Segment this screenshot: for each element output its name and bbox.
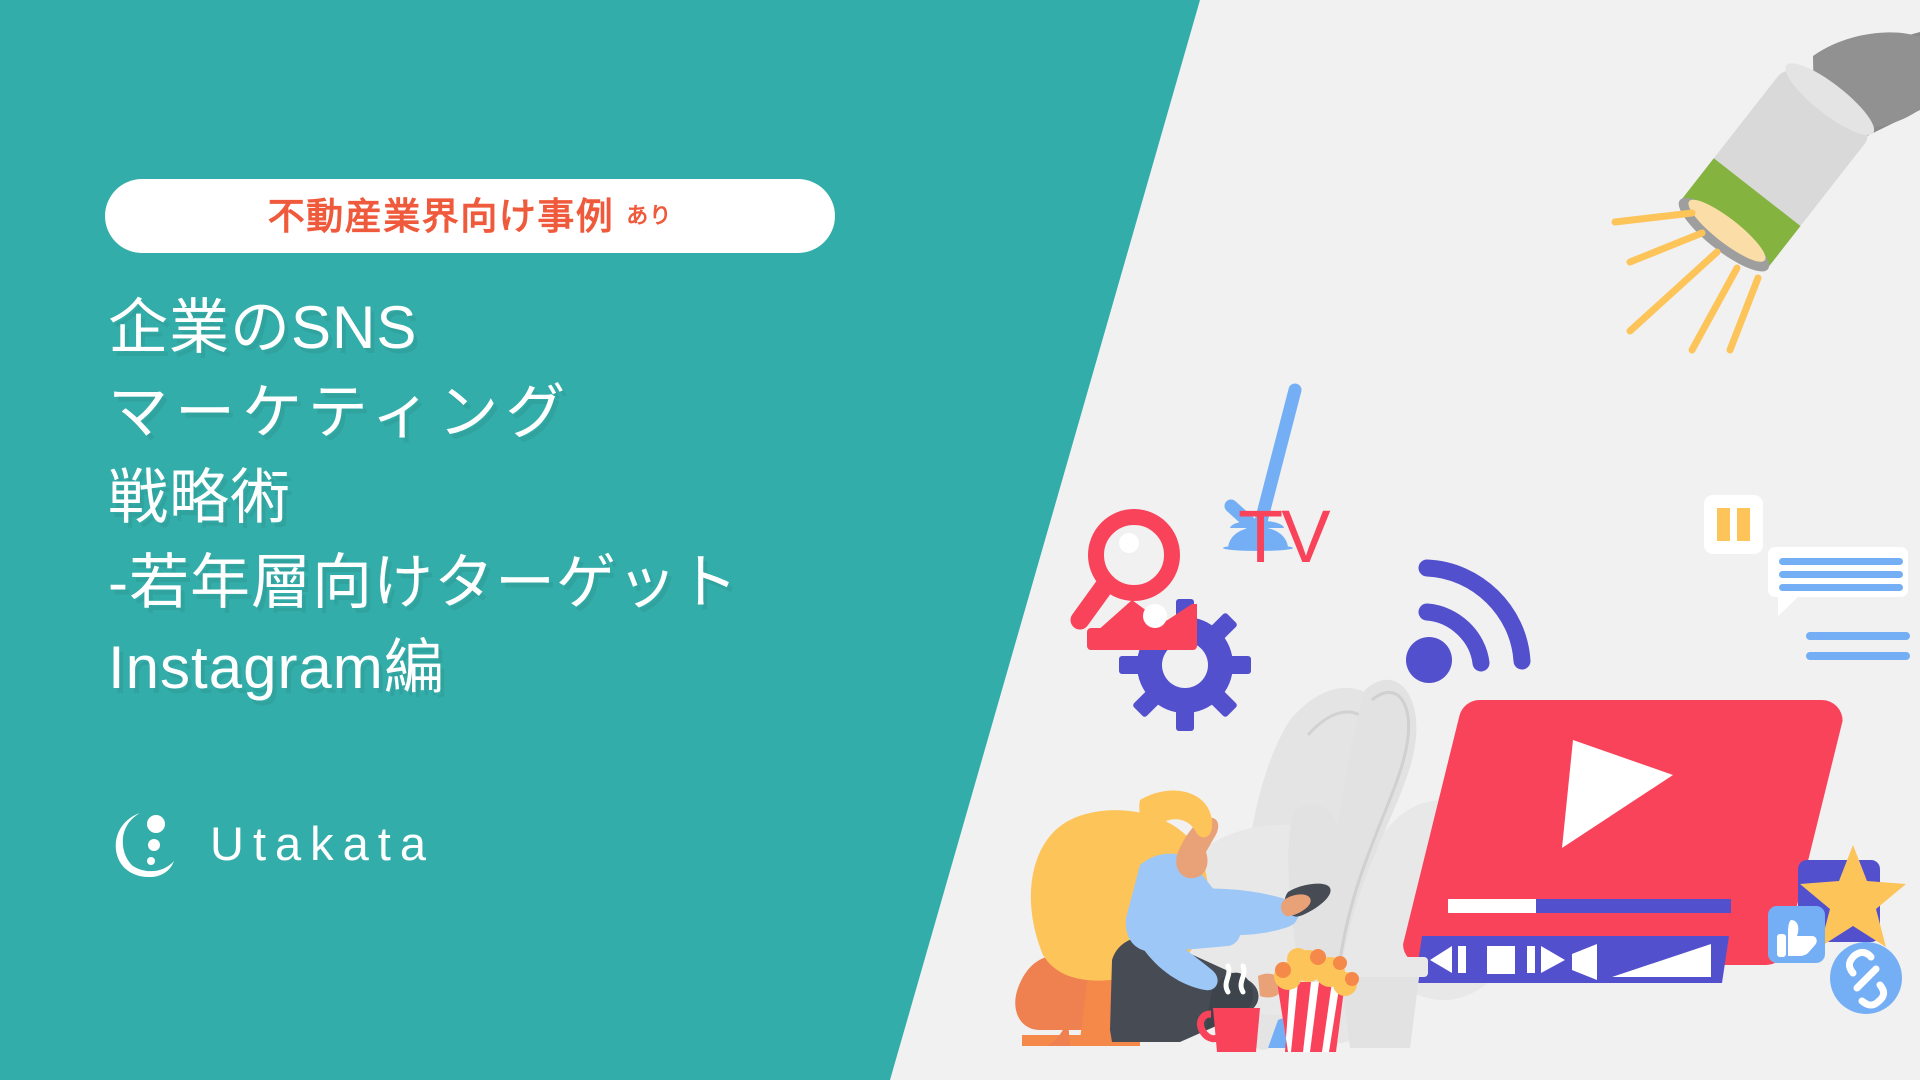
text-lines-icon [1806,632,1910,660]
title-line-4: -若年層向けターゲット [108,540,988,625]
rewind-bar-icon [1458,946,1466,973]
media-controls-bar[interactable] [1415,936,1729,983]
title-line-2: マーケティング [108,370,988,455]
wifi-dot-icon [1406,637,1452,683]
chat-bubble-icon [1768,547,1908,616]
left-content: 不動産業界向け事例 あり 企業のSNS マーケティング 戦略術 -若年層向けター… [0,0,1000,1080]
badge-suffix: あり [626,205,672,227]
poster-canvas: TV [0,0,1920,1080]
tv-text: TV [1238,495,1331,578]
logo-wordmark: Utakata [210,820,435,867]
flashlight-icon [1615,32,1920,350]
link-badge-icon[interactable] [1830,942,1902,1014]
thumbs-up-card-icon[interactable] [1768,906,1825,963]
category-badge: 不動産業界向け事例 あり [105,179,835,253]
title-line-5: Instagram編 [108,625,988,710]
brand-logo[interactable]: Utakata [110,805,435,881]
progress-bar[interactable] [1448,899,1731,913]
page-title: 企業のSNS マーケティング 戦略術 -若年層向けターゲット Instagram… [108,285,988,710]
title-line-3: 戦略術 [108,455,988,540]
utakata-bubble-mark-icon [110,805,186,881]
stop-icon [1487,946,1515,974]
title-line-1: 企業のSNS [108,285,988,370]
pause-card-icon[interactable] [1704,495,1763,554]
forward-bar-icon [1527,946,1535,973]
badge-label: 不動産業界向け事例 [268,198,615,235]
